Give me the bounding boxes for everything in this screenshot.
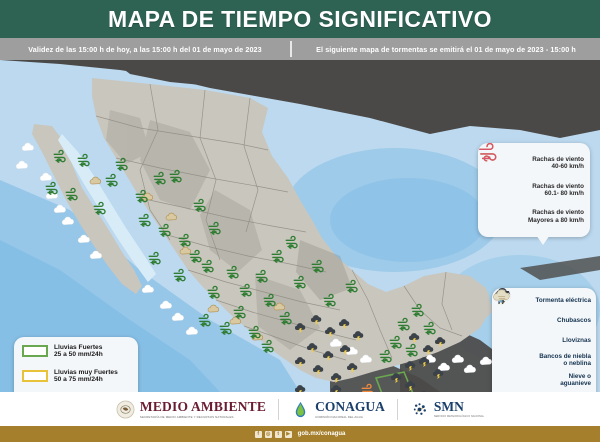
weather-map[interactable]: Lluvias Fuertes 25 a 50 mm/24h Lluvias m… [0,60,600,392]
wind-gust-legend[interactable]: Rachas de viento 40-60 km/h Rachas de vi… [478,143,590,237]
footer-divider-1 [278,399,279,420]
range-lluvias-fuertes: 25 a 50 mm/24h [54,351,103,358]
wind-legend-pointer [534,232,552,245]
facebook-icon[interactable]: f [255,431,262,438]
social-bar: f ◎ t ▶ gob.mx/conagua [0,426,600,442]
label-smn: SMN [434,400,484,414]
label-bancos-de-niebla-line2: o neblina [539,360,591,367]
range-lluvias-muy-fuertes: 50 a 75 mm/24h [54,376,118,383]
label-conagua-sub: COMISIÓN NACIONAL DEL AGUA [315,415,385,419]
conagua-water-icon [291,400,310,419]
legend-item-lloviznas: Lloviznas [496,331,591,349]
label-chubascos: Chubascos [557,317,591,324]
swatch-lluvias-fuertes [22,345,48,357]
legend-item-lluvias-fuertes: Lluvias Fuertes 25 a 50 mm/24h [22,344,130,359]
dust-icon [492,288,514,305]
site-url[interactable]: gob.mx/conagua [298,431,346,437]
label-conagua: CONAGUA [315,400,385,414]
label-rachas-mayores-80-line2: Mayores a 80 km/h [528,217,584,224]
youtube-icon[interactable]: ▶ [285,431,292,438]
label-rachas-60-80-line1: Rachas de viento [532,183,584,190]
legend-item-bancos-de-niebla: Bancos de niebla o neblina [496,351,591,369]
label-rachas-60-80-line2: 60.1- 80 km/h [532,190,584,197]
label-rachas-mayores-80-line1: Rachas de viento [528,209,584,216]
label-smn-sub: SERVICIO METEOROLÓGICO NACIONAL [434,415,484,418]
page-header: MAPA DE TIEMPO SIGNIFICATIVO [0,0,600,38]
rainfall-legend[interactable]: Lluvias Fuertes 25 a 50 mm/24h Lluvias m… [14,337,138,392]
footer-logos: MEDIO AMBIENTE SECRETARÍA DE MEDIO AMBIE… [0,392,600,426]
footer-divider-2 [397,399,398,420]
logo-medio-ambiente: MEDIO AMBIENTE SECRETARÍA DE MEDIO AMBIE… [116,400,266,419]
logo-smn: SMN SERVICIO METEOROLÓGICO NACIONAL [410,400,484,419]
logo-conagua: CONAGUA COMISIÓN NACIONAL DEL AGUA [291,400,385,419]
weather-symbol-legend[interactable]: Tormenta eléctrica Chubascos Lloviznas [492,288,596,392]
label-nieve-aguanieve-line1: Nieve o [560,373,591,380]
label-lloviznas: Lloviznas [562,337,591,344]
label-bancos-de-niebla-line1: Bancos de niebla [539,353,591,360]
label-tormenta-electrica: Tormenta eléctrica [535,297,591,304]
label-lluvias-muy-fuertes: Lluvias muy Fuertes [54,369,118,376]
label-medio-ambiente-sub: SECRETARÍA DE MEDIO AMBIENTE Y RECURSOS … [140,415,266,419]
legend-item-nieve-aguanieve: Nieve o aguanieve [496,371,591,389]
label-rachas-40-60-line2: 40-60 km/h [532,163,584,170]
validity-bar: Validez de las 15:00 h de hoy, a las 15:… [0,38,600,60]
label-rachas-40-60-line1: Rachas de viento [532,156,584,163]
wind-swirl-icon [478,143,500,163]
instagram-icon[interactable]: ◎ [265,431,272,438]
label-medio-ambiente: MEDIO AMBIENTE [140,400,266,414]
gulf-deeper [330,178,486,262]
legend-item-lluvias-muy-fuertes: Lluvias muy Fuertes 50 a 75 mm/24h [22,369,130,384]
label-lluvias-fuertes: Lluvias Fuertes [54,344,103,351]
page-title: MAPA DE TIEMPO SIGNIFICATIVO [108,6,492,33]
legend-item-rachas-mayores-80: Rachas de viento Mayores a 80 km/h [482,209,584,223]
legend-item-rachas-60-80: Rachas de viento 60.1- 80 km/h [482,183,584,197]
government-seal-icon [116,400,135,419]
smn-spiral-icon [410,400,429,419]
label-nieve-aguanieve-line2: aguanieve [560,380,591,387]
next-issue-text: El siguiente mapa de tormentas se emitir… [292,45,600,54]
legend-item-chubascos: Chubascos [496,312,591,330]
swatch-lluvias-muy-fuertes [22,370,48,382]
validity-text: Validez de las 15:00 h de hoy, a las 15:… [0,45,290,54]
twitter-icon[interactable]: t [275,431,282,438]
